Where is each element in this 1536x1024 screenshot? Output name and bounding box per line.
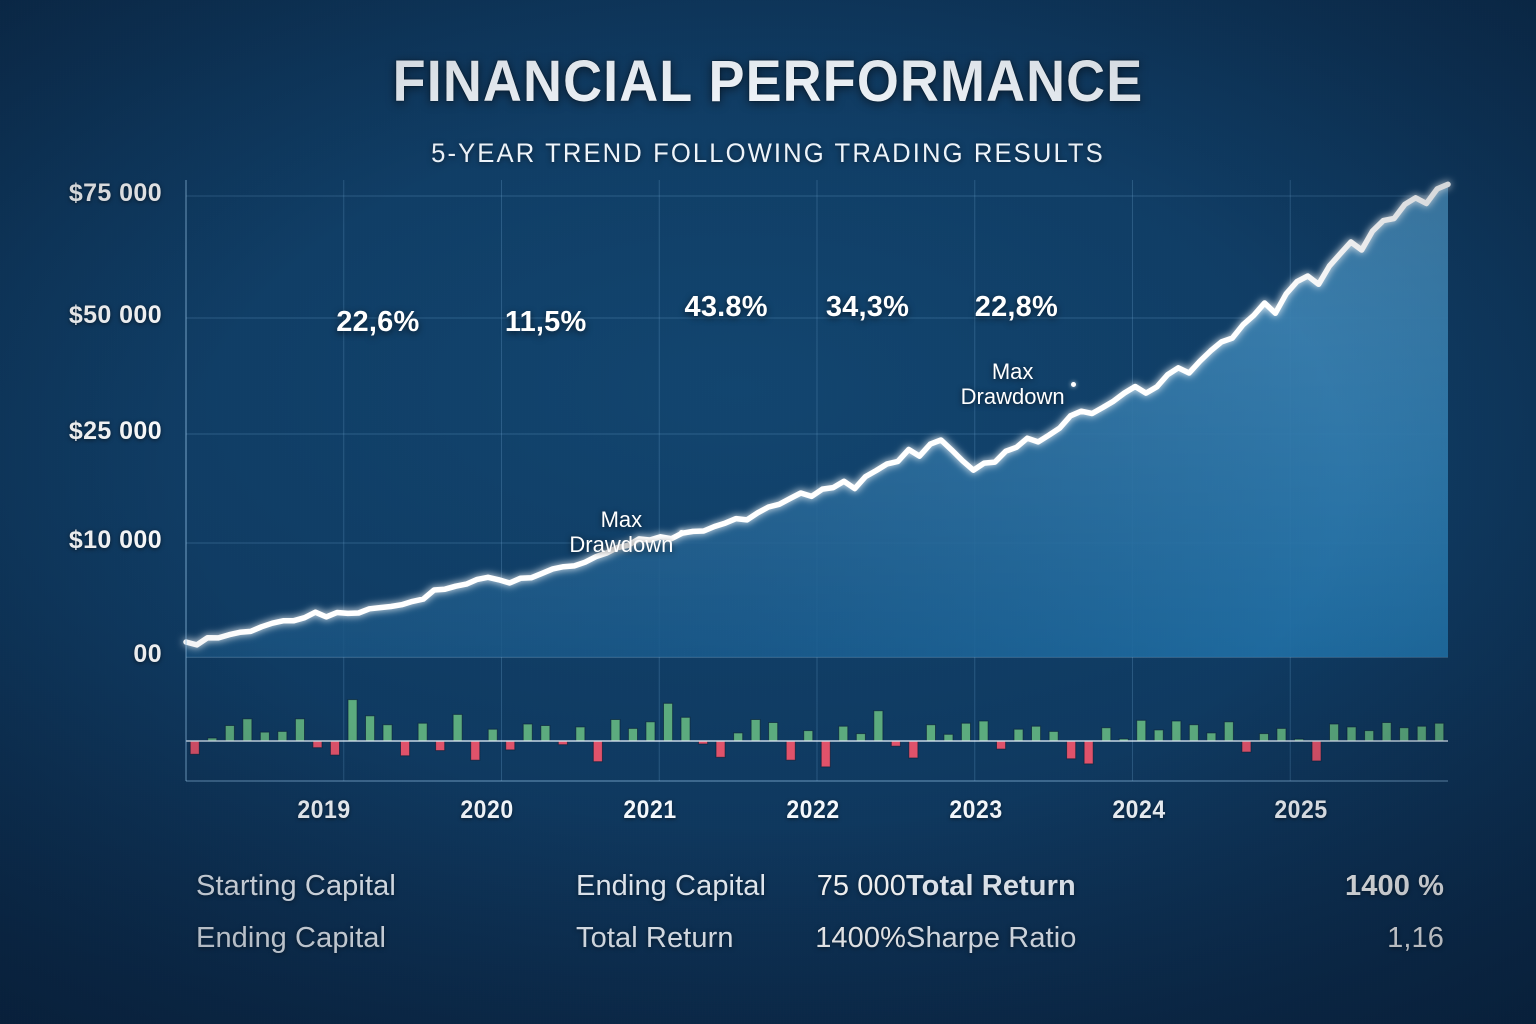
stats-column-3: Total Return1400 %Sharpe Ratio1,16 <box>906 870 1444 974</box>
return-bar-positive <box>1277 728 1286 741</box>
return-bar-positive <box>664 703 673 741</box>
return-bar-positive <box>366 716 375 741</box>
x-axis-tick-label: 2020 <box>461 796 514 825</box>
x-axis-tick-label: 2022 <box>786 796 839 825</box>
max-drawdown-annotation: MaxDrawdown <box>961 360 1065 409</box>
return-bar-negative <box>330 741 339 755</box>
return-bar-positive <box>523 724 532 741</box>
return-bar-negative <box>1067 741 1076 759</box>
return-bar-negative <box>506 741 515 750</box>
return-bar-positive <box>1435 723 1444 741</box>
stat-row: Ending Capital75 000 <box>576 870 906 922</box>
return-bar-negative <box>593 741 602 762</box>
return-bar-negative <box>313 741 322 748</box>
return-bar-negative <box>436 741 445 751</box>
return-bar-positive <box>1102 728 1111 741</box>
financial-performance-infographic: FINANCIAL PERFORMANCE 5-YEAR TREND FOLLO… <box>0 0 1536 1024</box>
return-bar-positive <box>751 720 760 742</box>
x-axis-tick-label: 2019 <box>298 796 351 825</box>
return-bar-positive <box>979 721 988 741</box>
return-bar-positive <box>611 720 620 742</box>
return-bar-negative <box>1084 741 1093 764</box>
return-bar-negative <box>190 741 199 754</box>
return-bar-negative <box>1312 741 1321 761</box>
max-drawdown-label-line2: Drawdown <box>961 385 1065 410</box>
max-drawdown-label-line1: Max <box>569 508 673 533</box>
max-drawdown-annotation: MaxDrawdown <box>569 508 673 557</box>
return-bar-positive <box>839 726 848 741</box>
return-bar-positive <box>1207 733 1216 741</box>
return-bar-positive <box>1137 720 1146 741</box>
stat-label: Ending Capital <box>196 922 386 955</box>
return-bar-positive <box>646 722 655 741</box>
return-bar-positive <box>295 719 304 741</box>
annual-return-label: 22,6% <box>336 306 419 339</box>
return-bar-positive <box>1049 731 1058 741</box>
stat-value: 1400 % <box>1345 870 1444 903</box>
return-bar-positive <box>1172 721 1181 741</box>
annual-return-label: 43.8% <box>685 291 768 324</box>
x-axis-tick-label: 2024 <box>1112 796 1165 825</box>
return-bar-positive <box>1032 726 1041 741</box>
max-drawdown-label-line1: Max <box>961 360 1065 385</box>
stat-label: Total Return <box>576 922 734 955</box>
return-bar-positive <box>804 731 813 741</box>
x-axis-tick-label: 2023 <box>949 796 1002 825</box>
return-bar-positive <box>453 714 462 741</box>
stat-label: Starting Capital <box>196 870 396 903</box>
stat-value: 75 000 <box>817 870 906 903</box>
return-bar-positive <box>1014 729 1023 741</box>
return-bar-positive <box>1417 726 1426 741</box>
return-bar-negative <box>909 741 918 758</box>
stat-row: Ending Capital <box>196 922 576 974</box>
return-bar-positive <box>856 734 865 741</box>
stat-row: Starting Capital <box>196 870 576 922</box>
return-bar-positive <box>769 723 778 742</box>
return-bar-positive <box>961 723 970 741</box>
x-axis-tick-label: 2021 <box>623 796 676 825</box>
stat-row: Sharpe Ratio1,16 <box>906 922 1444 974</box>
return-bar-negative <box>821 741 830 767</box>
stats-column-2: Ending Capital75 000Total Return1400% <box>576 870 906 974</box>
return-bar-positive <box>681 717 690 741</box>
stat-label: Ending Capital <box>576 870 766 903</box>
annual-return-label: 22,8% <box>975 291 1058 324</box>
y-axis-tick-label: $75 000 <box>69 179 162 208</box>
return-bar-negative <box>471 741 480 760</box>
return-bar-positive <box>225 726 234 742</box>
stat-value: 1400% <box>815 922 906 955</box>
annual-return-label: 11,5% <box>505 306 587 339</box>
return-bar-positive <box>383 725 392 741</box>
return-bar-positive <box>1259 734 1268 741</box>
return-bar-positive <box>418 723 427 741</box>
return-bar-positive <box>1330 724 1339 741</box>
max-drawdown-label-line2: Drawdown <box>569 533 673 558</box>
return-bar-negative <box>1242 741 1251 752</box>
return-bar-positive <box>628 728 637 741</box>
y-axis-tick-label: $25 000 <box>69 417 162 446</box>
stat-value: 1,16 <box>1387 922 1444 955</box>
annual-return-label: 34,3% <box>826 291 909 324</box>
return-bar-positive <box>278 731 287 741</box>
return-bar-positive <box>874 711 883 741</box>
return-bar-negative <box>401 741 410 756</box>
return-bar-negative <box>786 741 795 760</box>
return-bar-positive <box>1400 728 1409 741</box>
return-bar-positive <box>734 733 743 741</box>
return-bar-positive <box>1154 730 1163 741</box>
stat-label: Sharpe Ratio <box>906 922 1076 955</box>
summary-stats: Starting CapitalEnding Capital Ending Ca… <box>196 870 1444 974</box>
max-drawdown-marker-dot <box>1071 382 1076 387</box>
return-bar-positive <box>1224 722 1233 741</box>
return-bar-positive <box>926 725 935 741</box>
stats-column-1: Starting CapitalEnding Capital <box>196 870 576 974</box>
stat-label: Total Return <box>906 870 1076 903</box>
return-bar-positive <box>348 700 357 741</box>
return-bar-positive <box>1347 727 1356 741</box>
return-bar-negative <box>716 741 725 757</box>
stat-row: Total Return1400 % <box>906 870 1444 922</box>
return-bar-positive <box>488 729 497 741</box>
y-axis-tick-label: 00 <box>133 640 162 669</box>
return-bar-positive <box>576 727 585 741</box>
y-axis-tick-label: $50 000 <box>69 301 162 330</box>
y-axis-tick-label: $10 000 <box>69 526 162 555</box>
return-bar-positive <box>260 732 269 741</box>
return-bar-negative <box>997 741 1006 749</box>
return-bar-positive <box>1365 731 1374 741</box>
return-bar-positive <box>1382 723 1391 742</box>
return-bar-positive <box>243 719 252 741</box>
x-axis-tick-label: 2025 <box>1275 796 1328 825</box>
return-bar-positive <box>541 726 550 742</box>
return-bar-positive <box>944 734 953 741</box>
stat-row: Total Return1400% <box>576 922 906 974</box>
return-bar-positive <box>1189 725 1198 741</box>
